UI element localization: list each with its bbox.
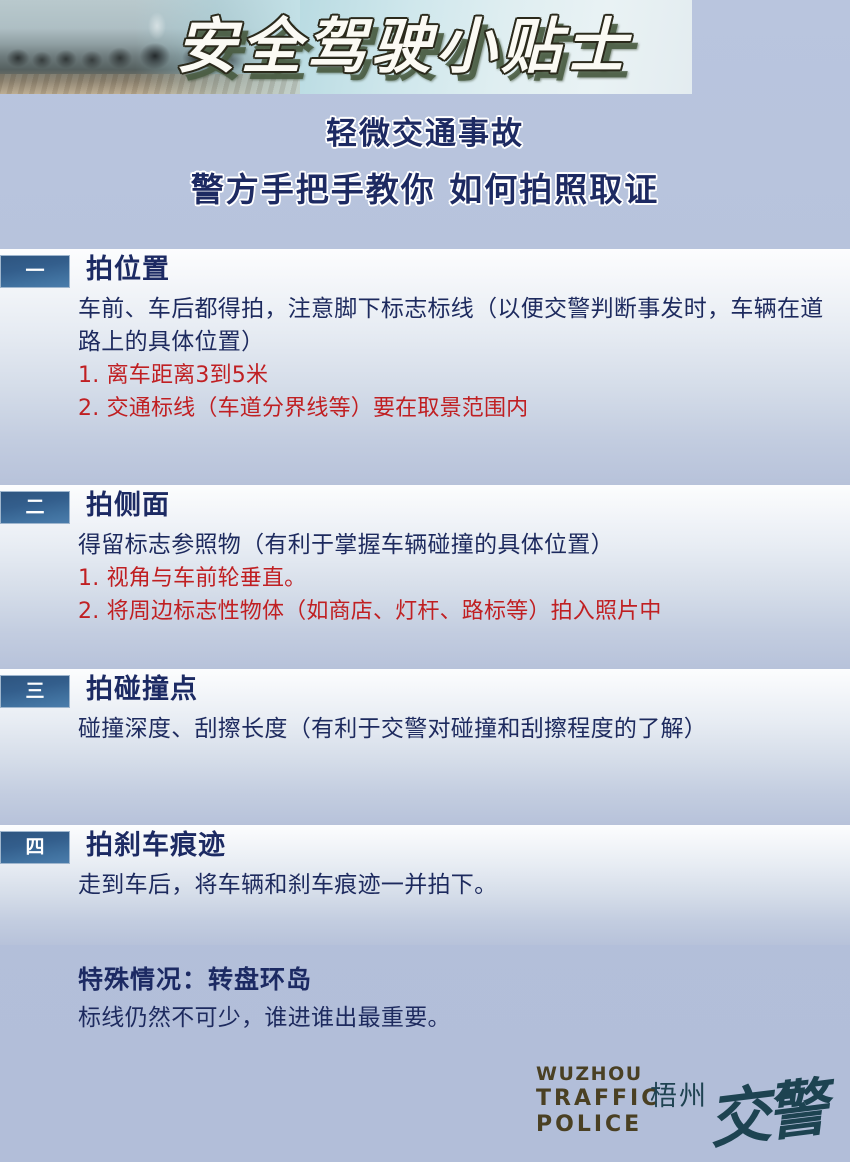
section-body: 车前、车后都得拍，注意脚下标志标线（以便交警判断事发时，车辆在道路上的具体位置）… [0,293,850,425]
poster-main-title: 安全驾驶小贴士 [176,6,676,88]
section-body-text: 走到车后，将车辆和刹车痕迹一并拍下。 [78,869,824,902]
section-body: 碰撞深度、刮擦长度（有利于交警对碰撞和刮擦程度的了解） [0,713,850,746]
section-list-item: 2. 交通标线（车道分界线等）要在取景范围内 [78,392,824,425]
header-banner: 安全驾驶小贴士 [0,0,692,94]
section-header: 三 拍碰撞点 [0,669,850,713]
wuzhou-traffic-police-logo: WUZHOU TRAFFIC POLICE 梧州 交警 [528,1026,828,1144]
section-block: 二 拍侧面 得留标志参照物（有利于掌握车辆碰撞的具体位置） 1. 视角与车前轮垂… [0,485,850,669]
section-block: 一 拍位置 车前、车后都得拍，注意脚下标志标线（以便交警判断事发时，车辆在道路上… [0,249,850,485]
section-block: 四 拍刹车痕迹 走到车后，将车辆和刹车痕迹一并拍下。 [0,825,850,945]
section-list-item: 1. 离车距离3到5米 [78,359,824,392]
section-body-text: 得留标志参照物（有利于掌握车辆碰撞的具体位置） [78,529,824,562]
section-header: 一 拍位置 [0,249,850,293]
poster-root: 安全驾驶小贴士 轻微交通事故 警方手把手教你 如何拍照取证 一 拍位置 车前、车… [0,0,850,1162]
section-number-badge: 四 [0,831,70,864]
section-number-badge: 二 [0,491,70,524]
section-number-badge: 三 [0,675,70,708]
section-list-item: 2. 将周边标志性物体（如商店、灯杆、路标等）拍入照片中 [78,595,824,628]
section-body: 得留标志参照物（有利于掌握车辆碰撞的具体位置） 1. 视角与车前轮垂直。 2. … [0,529,850,628]
special-case-title: 特殊情况：转盘环岛 [78,960,824,1000]
section-title: 拍侧面 [86,485,170,527]
section-title: 拍位置 [86,249,170,291]
section-body: 走到车后，将车辆和刹车痕迹一并拍下。 [0,869,850,902]
subtitle-line-2: 警方手把手教你 如何拍照取证 [0,163,850,211]
logo-wuzhou-chinese: 梧州 [650,1082,708,1112]
section-title: 拍刹车痕迹 [86,825,226,867]
section-header: 四 拍刹车痕迹 [0,825,850,869]
sections-list: 一 拍位置 车前、车后都得拍，注意脚下标志标线（以便交警判断事发时，车辆在道路上… [0,249,850,945]
section-body-text: 碰撞深度、刮擦长度（有利于交警对碰撞和刮擦程度的了解） [78,713,824,746]
subtitle-line-1: 轻微交通事故 [0,108,850,153]
section-body-text: 车前、车后都得拍，注意脚下标志标线（以便交警判断事发时，车辆在道路上的具体位置） [78,293,824,359]
section-title: 拍碰撞点 [86,669,198,711]
section-number-badge: 一 [0,255,70,288]
section-list-item: 1. 视角与车前轮垂直。 [78,562,824,595]
special-case-block: 特殊情况：转盘环岛 标线仍然不可少，谁进谁出最重要。 [0,938,850,1036]
section-header: 二 拍侧面 [0,485,850,529]
logo-jiaojing-calligraphy: 交警 [704,1073,828,1157]
section-block: 三 拍碰撞点 碰撞深度、刮擦长度（有利于交警对碰撞和刮擦程度的了解） [0,669,850,825]
subtitle-block: 轻微交通事故 警方手把手教你 如何拍照取证 [0,108,850,211]
